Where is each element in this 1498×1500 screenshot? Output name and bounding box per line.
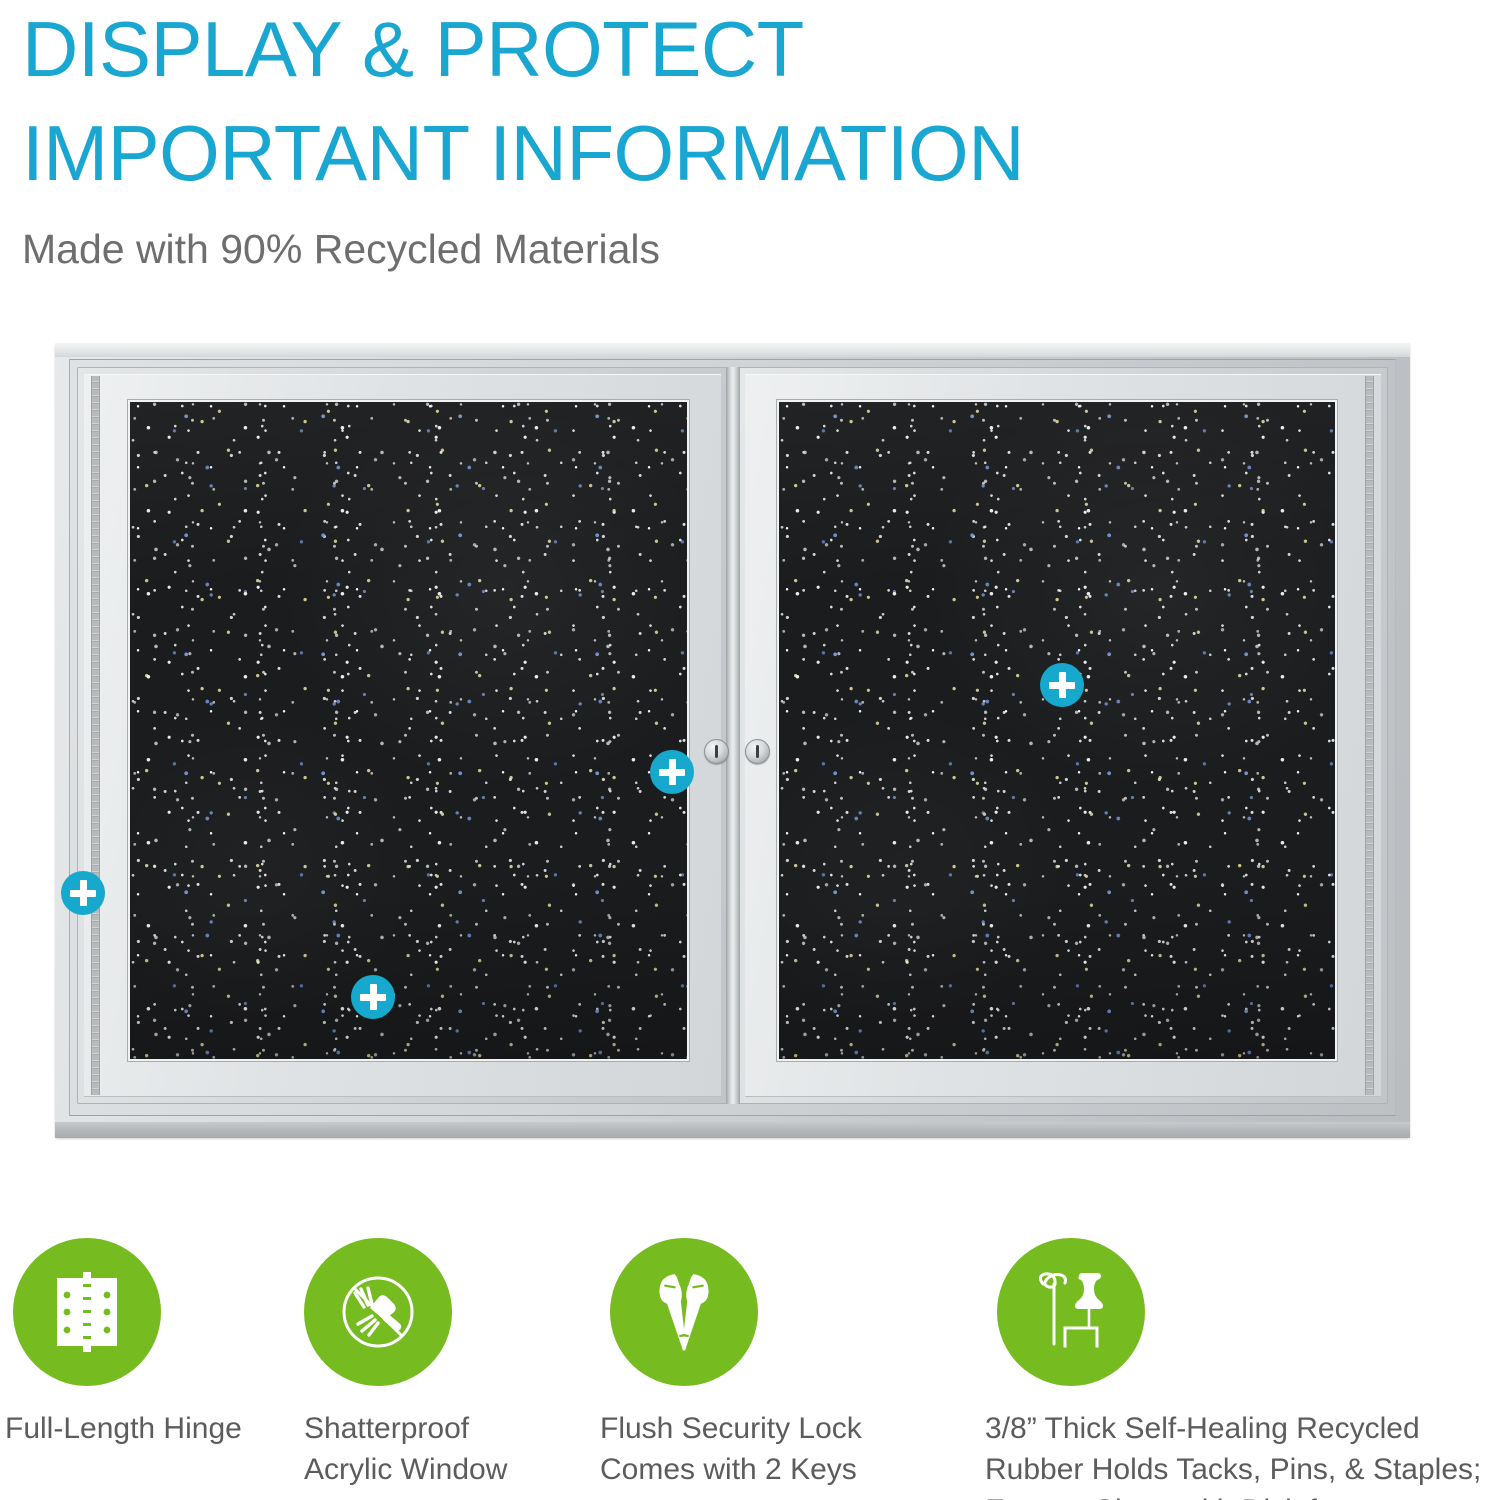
shatterproof-hammer-icon bbox=[328, 1262, 428, 1362]
center-stile bbox=[726, 367, 740, 1104]
feature-icon-badge bbox=[13, 1238, 161, 1386]
feature-label: Flush Security Lock Comes with 2 Keys bbox=[600, 1408, 930, 1490]
headline-line-1: DISPLAY & PROTECT bbox=[22, 2, 1322, 96]
door-left[interactable] bbox=[77, 367, 728, 1104]
rubber-board-left bbox=[130, 402, 687, 1059]
subheadline: Made with 90% Recycled Materials bbox=[22, 224, 1322, 274]
feature-label: Shatterproof Acrylic Window bbox=[304, 1408, 596, 1490]
header-block: DISPLAY & PROTECT IMPORTANT INFORMATION … bbox=[22, 0, 1322, 274]
keys-icon bbox=[636, 1264, 732, 1360]
feature-icon-badge bbox=[610, 1238, 758, 1386]
lock-cylinder-left[interactable] bbox=[704, 739, 729, 764]
hinge-strip-left bbox=[91, 376, 100, 1095]
feature-flush-security-lock: Flush Security Lock Comes with 2 Keys bbox=[600, 1238, 930, 1490]
acrylic-window-right bbox=[777, 400, 1338, 1061]
lock-cylinder-right[interactable] bbox=[745, 739, 770, 764]
hinge-icon bbox=[39, 1264, 135, 1360]
feature-full-length-hinge: Full-Length Hinge bbox=[5, 1238, 305, 1449]
rubber-board-right bbox=[779, 402, 1336, 1059]
feature-icon-badge bbox=[997, 1238, 1145, 1386]
door-right[interactable] bbox=[738, 367, 1389, 1104]
feature-label: 3/8” Thick Self-Healing Recycled Rubber … bbox=[985, 1408, 1485, 1500]
feature-shatterproof-acrylic: Shatterproof Acrylic Window bbox=[296, 1238, 596, 1490]
acrylic-window-left bbox=[128, 400, 689, 1061]
pin-tack-staple-icon bbox=[1021, 1262, 1121, 1362]
product-image bbox=[55, 343, 1410, 1138]
feature-row: Full-Length Hinge bbox=[0, 1238, 1498, 1500]
cabinet-doors bbox=[77, 367, 1388, 1104]
feature-self-healing-rubber: 3/8” Thick Self-Healing Recycled Rubber … bbox=[985, 1238, 1485, 1500]
feature-label: Full-Length Hinge bbox=[5, 1408, 305, 1449]
headline-line-2: IMPORTANT INFORMATION bbox=[22, 106, 1322, 200]
hinge-strip-right bbox=[1365, 376, 1374, 1095]
feature-icon-badge bbox=[304, 1238, 452, 1386]
infographic-page: DISPLAY & PROTECT IMPORTANT INFORMATION … bbox=[0, 0, 1498, 1500]
